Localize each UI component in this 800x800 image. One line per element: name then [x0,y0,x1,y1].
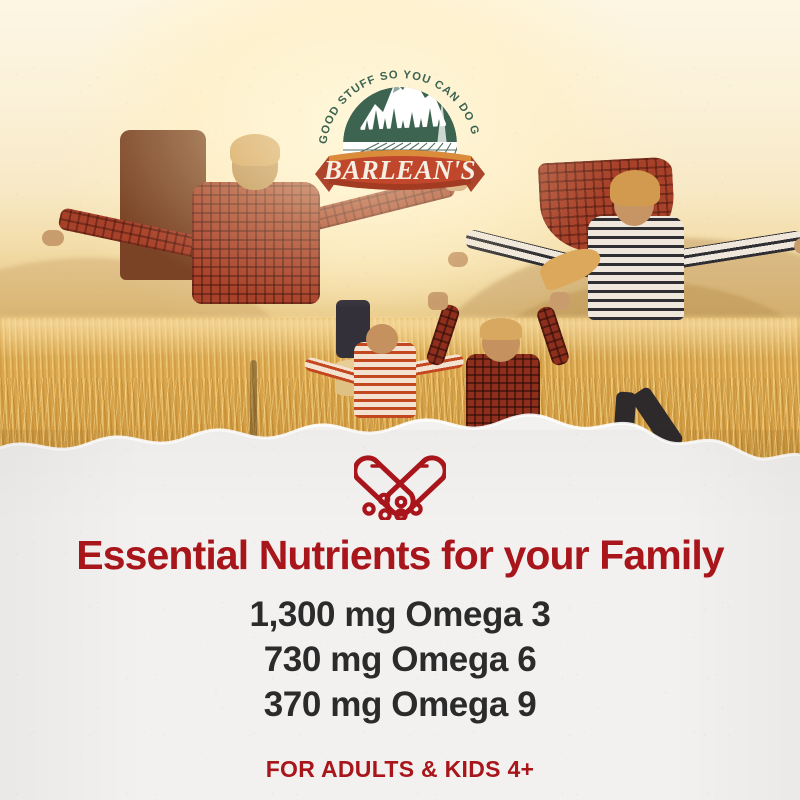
product-ad-card: WE MAKE GOOD STUFF SO YOU CAN DO GOOD ST… [0,0,800,800]
barleans-logo[interactable]: WE MAKE GOOD STUFF SO YOU CAN DO GOOD ST… [307,22,493,202]
list-item-omega-6: 730 mg Omega 6 [0,638,800,683]
ad-copy-block: Essential Nutrients for your Family 1,30… [0,440,800,783]
mother-hair [610,170,660,206]
father-leg-split [250,360,257,452]
figure-mother [540,160,800,450]
omega-capsules-icon [354,452,446,520]
boy-torso [466,354,540,440]
logo-brand-name: BARLEAN'S [323,155,476,185]
girl-head [366,324,398,354]
boy-hand-left [428,292,448,310]
mother-torso [588,216,684,320]
father-hand-left [42,230,64,246]
logo-ribbon: BARLEAN'S [315,150,485,192]
omega-list: 1,300 mg Omega 3 730 mg Omega 6 370 mg O… [0,593,800,727]
mother-hand-left [448,252,468,267]
audience-footnote: FOR ADULTS & KIDS 4+ [0,756,800,783]
page-title: Essential Nutrients for your Family [0,534,800,577]
list-item-omega-3: 1,300 mg Omega 3 [0,593,800,638]
list-item-omega-9: 370 mg Omega 9 [0,683,800,728]
father-torso [192,182,320,304]
mother-arm-right [671,230,800,269]
father-hair [230,134,280,166]
boy-hair [480,318,522,340]
mother-hand-right [794,238,800,254]
